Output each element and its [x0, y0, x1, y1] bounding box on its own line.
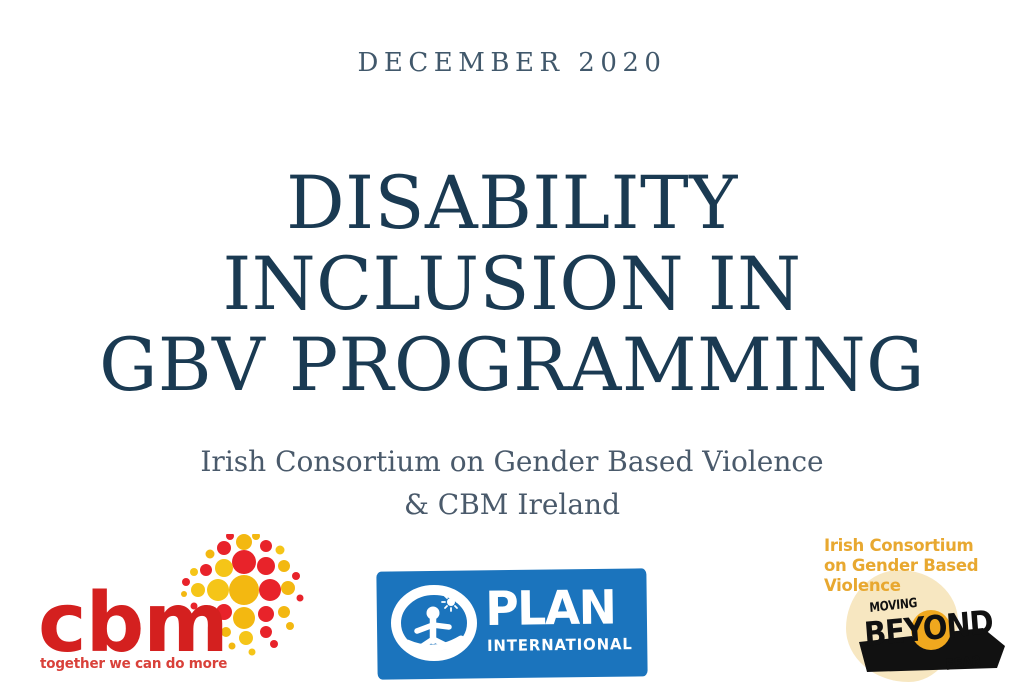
subtitle-line-1: Irish Consortium on Gender Based Violenc…: [0, 440, 1024, 483]
title-line-3: GBV PROGRAMMING: [0, 325, 1024, 406]
moving-beyond-fear-stamp: MOVING BEYOND FEAR: [863, 600, 999, 678]
cbm-tagline: together we can do more: [40, 656, 227, 672]
cbm-wordmark: cbm: [38, 583, 228, 665]
plan-wordmark: PLAN: [485, 584, 616, 633]
icgbv-name-line-1: Irish Consortium: [824, 536, 999, 556]
title-line-1: DISABILITY: [0, 163, 1024, 244]
page-subtitle: Irish Consortium on Gender Based Violenc…: [0, 440, 1024, 526]
slide-date: DECEMBER 2020: [0, 48, 1024, 78]
icgbv-name: Irish Consortium on Gender Based Violenc…: [824, 536, 999, 596]
title-slide: DECEMBER 2020 DISABILITY INCLUSION IN GB…: [0, 0, 1024, 682]
icgbv-logo: Irish Consortium on Gender Based Violenc…: [806, 528, 1006, 682]
icgbv-name-line-2: on Gender Based: [824, 556, 999, 576]
plan-child-emblem-icon: [389, 583, 479, 663]
cbm-logo: cbm together we can do more: [30, 538, 320, 683]
icgbv-name-line-3: Violence: [824, 576, 999, 596]
logo-strip: cbm together we can do more: [0, 528, 1024, 682]
subtitle-line-2: & CBM Ireland: [0, 483, 1024, 526]
plan-international-logo: PLAN INTERNATIONAL: [377, 570, 647, 678]
stamp-line-fear: FEAR: [945, 654, 982, 673]
plan-sub-wordmark: INTERNATIONAL: [487, 636, 633, 654]
page-title: DISABILITY INCLUSION IN GBV PROGRAMMING: [0, 163, 1024, 406]
title-line-2: INCLUSION IN: [0, 244, 1024, 325]
